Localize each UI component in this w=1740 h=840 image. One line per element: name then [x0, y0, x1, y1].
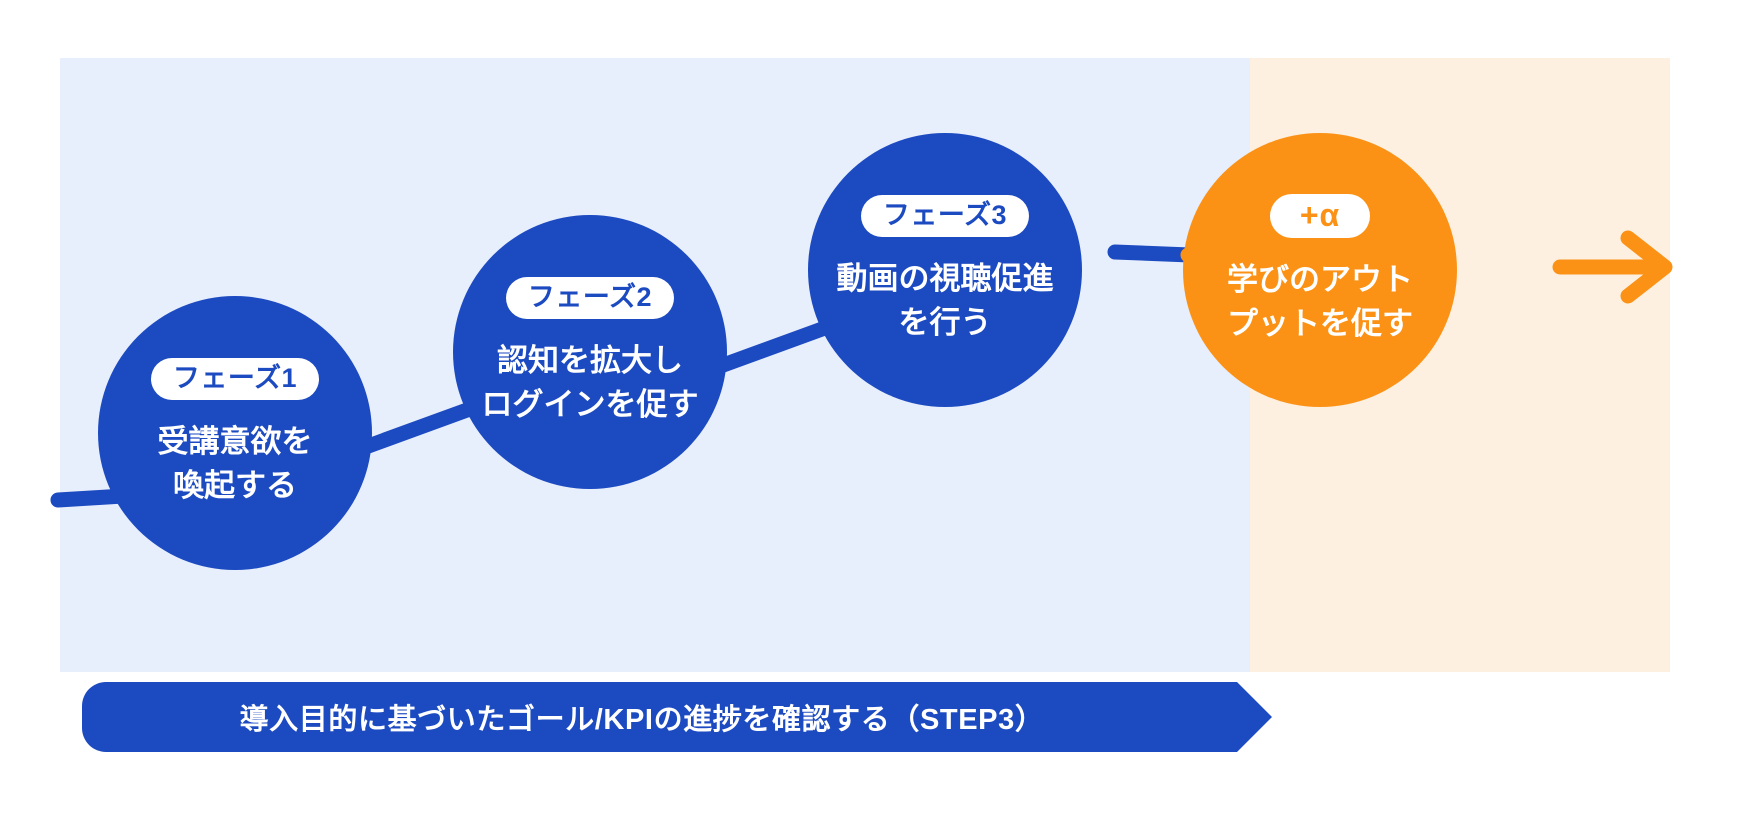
phase-text-plus-alpha: 学びのアウト プットを促す	[1227, 258, 1413, 346]
phase-text-3-line1: 動画の視聴促進	[837, 257, 1054, 301]
phase-text-2-line2: ログインを促す	[482, 383, 699, 427]
phase-text-1-line2: 喚起する	[158, 464, 313, 508]
phase-text-2-line1: 認知を拡大し	[482, 339, 699, 383]
goal-kpi-banner[interactable]: 導入目的に基づいたゴール/KPIの進捗を確認する（STEP3）	[82, 682, 1272, 752]
phase-text-plus-alpha-line1: 学びのアウト	[1227, 258, 1413, 302]
phase-text-1-line1: 受講意欲を	[158, 420, 313, 464]
phase-text-1: 受講意欲を 喚起する	[158, 420, 313, 508]
diagram-canvas: フェーズ1 受講意欲を 喚起する フェーズ2 認知を拡大し ログインを促す フェ…	[0, 0, 1740, 840]
phase-badge-3: フェーズ3	[861, 195, 1029, 237]
phase-text-2: 認知を拡大し ログインを促す	[482, 339, 699, 427]
phase-badge-2: フェーズ2	[506, 277, 674, 319]
phase-node-plus-alpha[interactable]: +α 学びのアウト プットを促す	[1183, 133, 1457, 407]
phase-text-plus-alpha-line2: プットを促す	[1227, 302, 1413, 346]
goal-kpi-banner-label: 導入目的に基づいたゴール/KPIの進捗を確認する（STEP3）	[82, 682, 1202, 752]
phase-text-3-line2: を行う	[837, 301, 1054, 345]
phase-text-3: 動画の視聴促進 を行う	[837, 257, 1054, 345]
phase-node-1[interactable]: フェーズ1 受講意欲を 喚起する	[98, 296, 372, 570]
phase-node-3[interactable]: フェーズ3 動画の視聴促進 を行う	[808, 133, 1082, 407]
connector-phase3-plus-alpha-blue	[1115, 252, 1190, 255]
phase-badge-1: フェーズ1	[151, 358, 319, 400]
phase-node-2[interactable]: フェーズ2 認知を拡大し ログインを促す	[453, 215, 727, 489]
phase-badge-plus-alpha: +α	[1270, 194, 1370, 238]
